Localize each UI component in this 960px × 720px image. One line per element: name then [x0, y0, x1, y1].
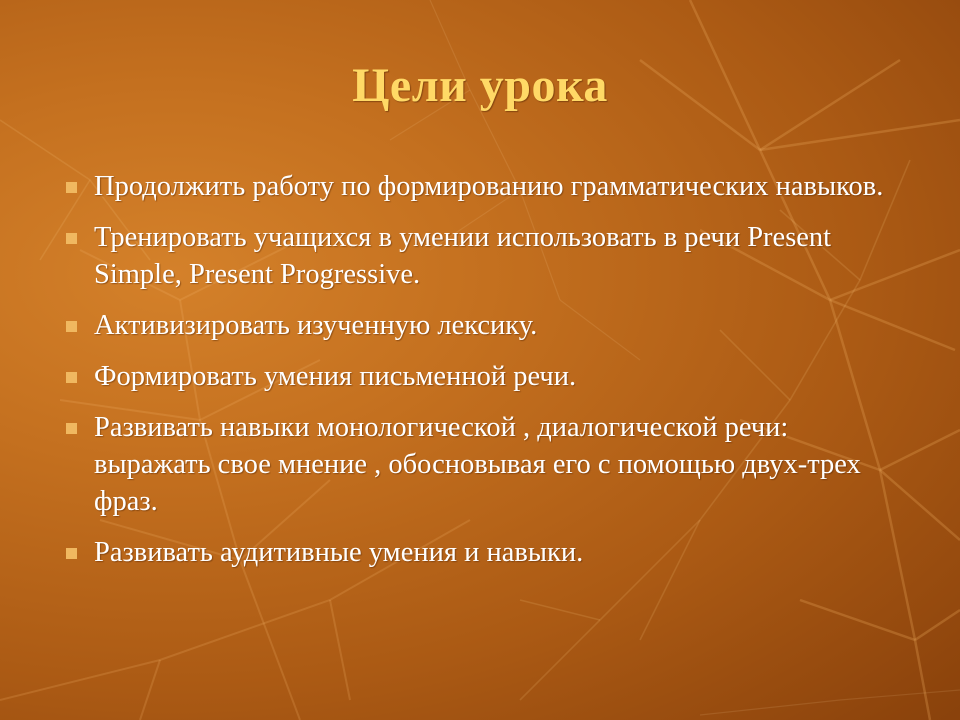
bullet-list: Продолжить работу по формированию грамма… — [52, 168, 912, 571]
list-item-text: Активизировать изученную лексику. — [94, 307, 912, 344]
square-bullet-icon — [66, 372, 77, 383]
square-bullet-icon — [66, 321, 77, 332]
square-bullet-icon — [66, 548, 77, 559]
list-item: Продолжить работу по формированию грамма… — [52, 168, 912, 205]
list-item: Развивать навыки монологической , диалог… — [52, 409, 912, 520]
list-item: Развивать аудитивные умения и навыки. — [52, 534, 912, 571]
list-item: Активизировать изученную лексику. — [52, 307, 912, 344]
list-item-text: Развивать аудитивные умения и навыки. — [94, 534, 912, 571]
square-bullet-icon — [66, 233, 77, 244]
slide-body: Продолжить работу по формированию грамма… — [52, 168, 912, 585]
square-bullet-icon — [66, 423, 77, 434]
list-item-text: Продолжить работу по формированию грамма… — [94, 168, 912, 205]
list-item: Тренировать учащихся в умении использова… — [52, 219, 912, 293]
square-bullet-icon — [66, 182, 77, 193]
list-item-text: Развивать навыки монологической , диалог… — [94, 409, 912, 520]
list-item: Формировать умения письменной речи. — [52, 358, 912, 395]
slide-title: Цели урока — [0, 58, 960, 113]
list-item-text: Формировать умения письменной речи. — [94, 358, 912, 395]
slide-canvas: Цели урока Продолжить работу по формиров… — [0, 0, 960, 720]
list-item-text: Тренировать учащихся в умении использова… — [94, 219, 912, 293]
